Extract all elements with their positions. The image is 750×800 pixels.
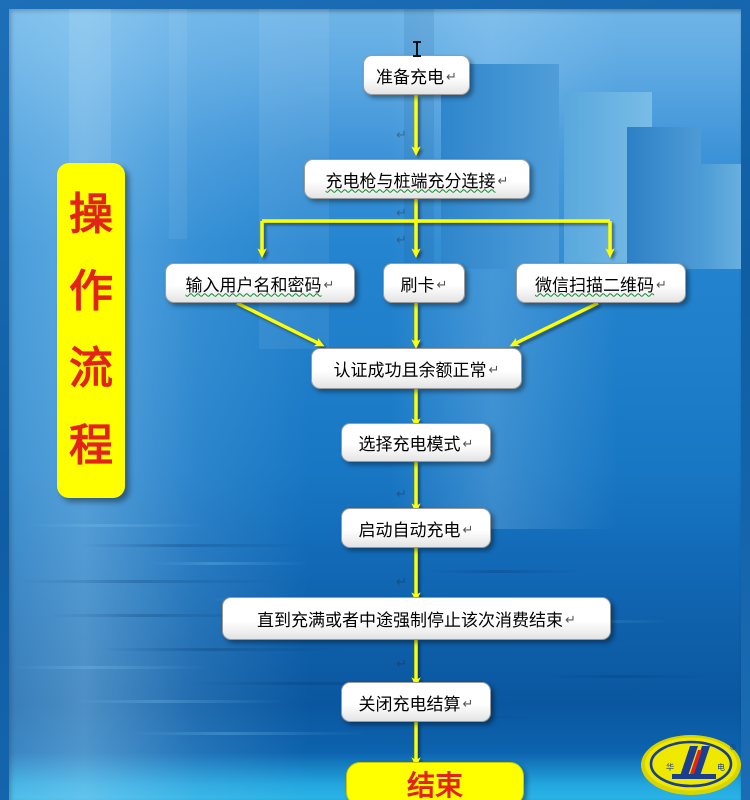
bar-face [627, 127, 701, 269]
paragraph-mark: ↵ [489, 363, 500, 378]
svg-text:华: 华 [666, 762, 674, 772]
flow-node-connect-gun[interactable]: 充电枪与桩端充分连接 ↵ [304, 159, 530, 199]
flow-node-auth-success[interactable]: 认证成功且余额正常 ↵ [311, 348, 522, 389]
decorative-column-3 [404, 9, 434, 269]
node-label: 认证成功且余额正常 [334, 356, 487, 381]
flow-node-select-mode[interactable]: 选择充电模式 ↵ [341, 423, 491, 462]
title-char-4: 程 [69, 424, 113, 468]
node-label: 刷卡 [401, 271, 435, 296]
decorative-column-4 [169, 9, 187, 239]
decorative-bar-4 [699, 164, 741, 269]
flow-node-close-settlement[interactable]: 关闭充电结算 ↵ [341, 682, 491, 722]
bar-face [699, 164, 741, 269]
flow-node-end[interactable]: 结束 [346, 762, 524, 800]
paragraph-mark: ↵ [446, 70, 457, 85]
node-label: 充电枪与桩端充分连接 [326, 167, 496, 192]
node-label: 准备充电 [376, 63, 444, 88]
paragraph-mark: ↵ [324, 278, 335, 293]
flow-node-prepare-charging[interactable]: 准备充电 ↵ [363, 55, 470, 95]
node-label: 结束 [407, 764, 463, 800]
flow-node-until-full-or-stop[interactable]: 直到充满或者中途强制停止该次消费结束 ↵ [222, 597, 611, 640]
title-char-1: 操 [69, 193, 113, 237]
paragraph-mark: ↵ [463, 523, 474, 538]
node-label: 关闭充电结算 [359, 690, 461, 715]
paragraph-mark: ↵ [565, 613, 576, 628]
decorative-bar-3 [627, 127, 701, 269]
paragraph-mark: ↵ [498, 174, 509, 189]
company-logo: 华 电 ® [640, 734, 742, 796]
node-label: 直到充满或者中途强制停止该次消费结束 [257, 606, 563, 631]
title-char-2: 作 [69, 270, 113, 314]
logo-graphic: 华 电 ® [640, 734, 742, 796]
node-label: 选择充电模式 [359, 430, 461, 455]
stray-paragraph-mark: ↵ [396, 128, 407, 143]
flowchart-image: ↵ ↵ ↵ ↵ ↵ ↵ 操 作 流 程 准备充电 ↵ 充电枪与桩端充分连接 ↵ … [0, 0, 750, 800]
stray-paragraph-mark: ↵ [396, 657, 407, 672]
stray-paragraph-mark: ↵ [396, 575, 407, 590]
flow-node-wechat-qr[interactable]: 微信扫描二维码 ↵ [516, 263, 686, 303]
flow-node-username-password[interactable]: 输入用户名和密码 ↵ [165, 263, 355, 303]
trademark-symbol: ® [729, 743, 737, 752]
text-caret-icon [416, 41, 418, 57]
paragraph-mark: ↵ [463, 697, 474, 712]
node-label: 微信扫描二维码 [535, 271, 654, 296]
flow-node-swipe-card[interactable]: 刷卡 ↵ [383, 263, 465, 303]
stray-paragraph-mark: ↵ [396, 206, 407, 221]
vertical-title-banner: 操 作 流 程 [57, 163, 125, 498]
node-label: 输入用户名和密码 [186, 271, 322, 296]
node-label: 启动自动充电 [359, 516, 461, 541]
water-streak-texture [9, 510, 741, 770]
title-char-3: 流 [69, 347, 113, 391]
svg-text:电: 电 [717, 762, 725, 772]
paragraph-mark: ↵ [463, 437, 474, 452]
stray-paragraph-mark: ↵ [396, 487, 407, 502]
flow-node-start-auto-charging[interactable]: 启动自动充电 ↵ [341, 508, 491, 548]
paragraph-mark: ↵ [656, 278, 667, 293]
stray-paragraph-mark: ↵ [396, 233, 407, 248]
paragraph-mark: ↵ [437, 278, 448, 293]
